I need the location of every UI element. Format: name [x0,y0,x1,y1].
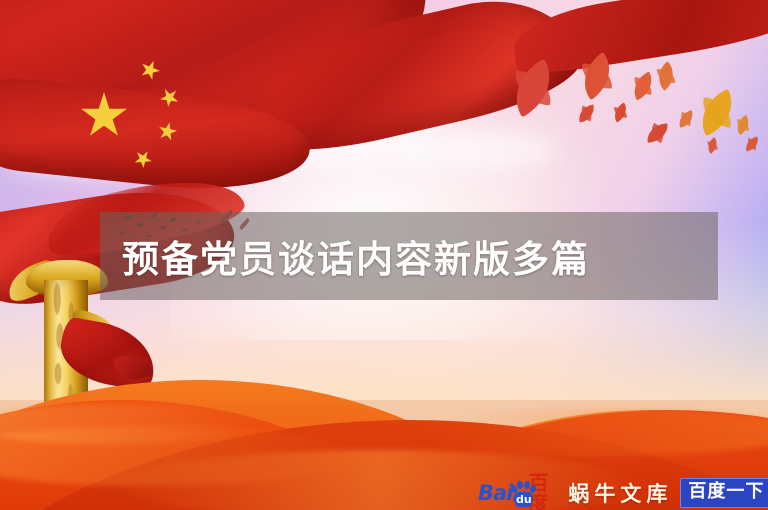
baidu-search-button[interactable]: 百度一下 [680,478,768,508]
baidu-latin-text: Bai [478,483,512,504]
poster-canvas: 预备党员谈话内容新版多篇 Bai du 百度 蜗牛文库 百度一下 [0,0,768,510]
title-overlay-band: 预备党员谈话内容新版多篇 [100,212,718,300]
page-title: 预备党员谈话内容新版多篇 [122,229,590,283]
baidu-logo[interactable]: Bai du 百度 [478,480,556,506]
branding-bar: Bai du 百度 蜗牛文库 百度一下 [478,476,768,510]
site-name-label: 蜗牛文库 [568,478,672,508]
baidu-paw-icon: du [510,481,528,505]
baidu-du-badge: du [515,492,532,507]
